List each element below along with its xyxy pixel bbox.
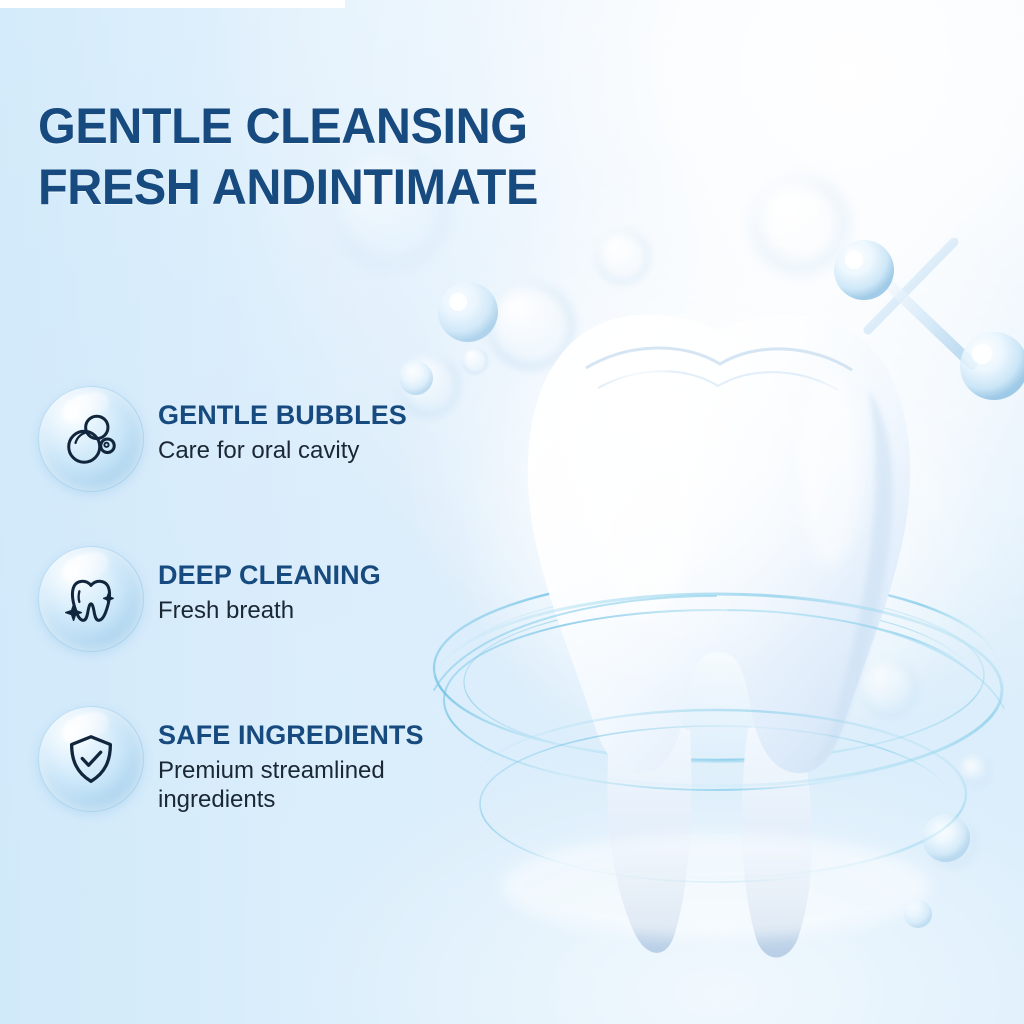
feature-subtitle: Premium streamlined ingredients [158, 756, 458, 815]
headline-line-1: GENTLE CLEANSING [38, 96, 717, 157]
feature-icon-bubble-frame [38, 386, 144, 492]
bubbles-icon [60, 408, 122, 470]
tooth-body [528, 315, 910, 958]
decorative-bubble [960, 756, 990, 786]
top-white-strip [0, 0, 345, 8]
feature-text-block: DEEP CLEANING Fresh breath [158, 546, 381, 625]
light-swirl-rings-front [430, 594, 1004, 882]
feature-text-block: SAFE INGREDIENTS Premium streamlined ing… [158, 706, 458, 815]
decorative-bubble [752, 176, 848, 272]
feature-text-block: GENTLE BUBBLES Care for oral cavity [158, 386, 407, 465]
molecule-decoration [834, 240, 1024, 400]
headline-line-2: FRESH ANDINTIMATE [38, 157, 717, 218]
feature-subtitle: Care for oral cavity [158, 436, 407, 465]
product-feature-banner: GENTLE CLEANSING FRESH ANDINTIMATE [0, 0, 1024, 1024]
decorative-bubble [930, 820, 976, 866]
feature-subtitle: Fresh breath [158, 596, 381, 625]
feature-icon-bubble-frame [38, 546, 144, 652]
feature-title: GENTLE BUBBLES [158, 400, 407, 431]
feature-icon-bubble-frame [38, 706, 144, 812]
decorative-bubble [596, 230, 650, 284]
feature-title: SAFE INGREDIENTS [158, 720, 458, 751]
decorative-bubble [487, 282, 575, 370]
feature-item-safe-ingredients: SAFE INGREDIENTS Premium streamlined ing… [38, 706, 508, 815]
light-swirl-rings-back [434, 576, 998, 762]
shield-check-icon [60, 728, 122, 790]
decorative-bubble [462, 348, 488, 374]
feature-item-gentle-bubbles: GENTLE BUBBLES Care for oral cavity [38, 386, 508, 492]
tooth-sparkle-icon [60, 568, 122, 630]
page-title: GENTLE CLEANSING FRESH ANDINTIMATE [38, 96, 738, 218]
feature-item-deep-cleaning: DEEP CLEANING Fresh breath [38, 546, 508, 652]
feature-list: GENTLE BUBBLES Care for oral cavity [38, 386, 508, 815]
feature-title: DEEP CLEANING [158, 560, 381, 591]
decorative-bubble [860, 660, 918, 718]
